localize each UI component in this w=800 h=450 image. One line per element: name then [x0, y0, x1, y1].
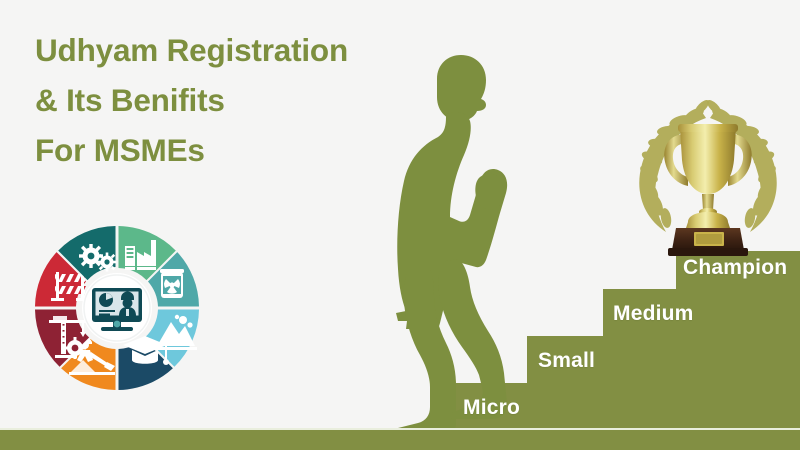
step-label-small: Small	[538, 349, 595, 373]
wheel-segment-bottom-right	[119, 336, 173, 390]
step-label-medium: Medium	[613, 302, 694, 326]
step-label-champion: Champion	[683, 256, 787, 280]
step-label-micro: Micro	[463, 396, 520, 420]
msme-sectors-wheel	[33, 224, 201, 392]
page-title: Udhyam Registration & Its Benifits For M…	[35, 25, 395, 175]
title-line-2: & Its Benifits	[35, 75, 395, 125]
title-line-1: Udhyam Registration	[35, 25, 395, 75]
walking-man-silhouette	[376, 55, 526, 433]
gold-trophy-icon	[618, 98, 798, 256]
ground-strip	[0, 430, 800, 450]
banner-root: Udhyam Registration & Its Benifits For M…	[0, 0, 800, 450]
title-line-3: For MSMEs	[35, 125, 395, 175]
